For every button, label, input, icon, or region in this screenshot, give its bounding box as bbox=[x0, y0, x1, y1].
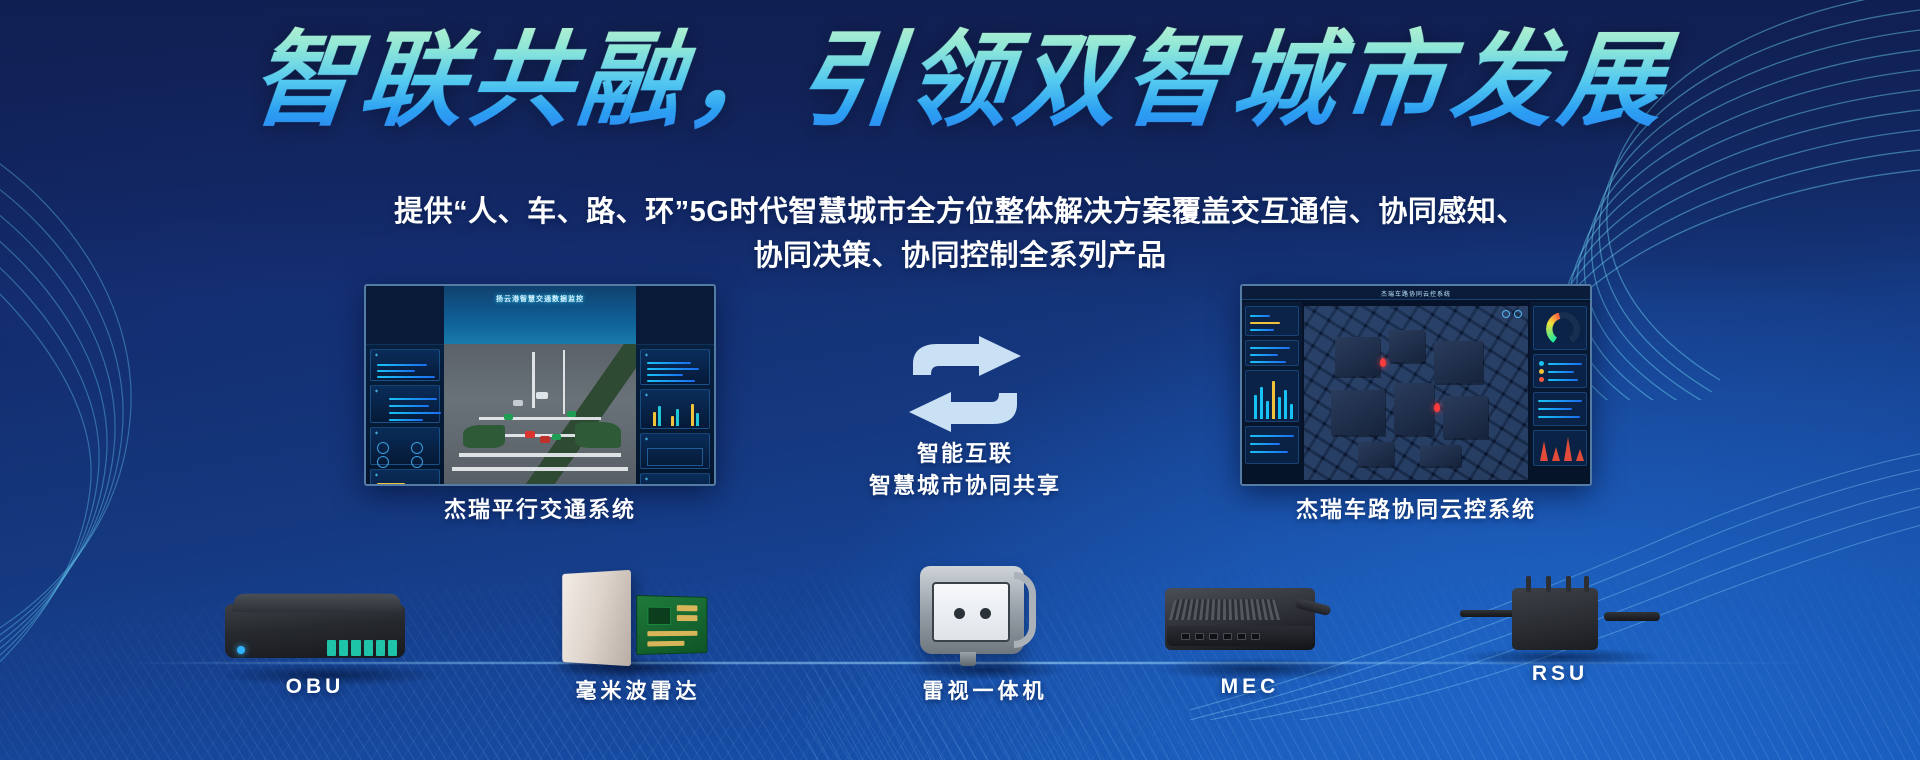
traffic-dashboard: 扬云港智慧交通数据监控 ◈ ◈ ◈ ◈ bbox=[366, 286, 714, 484]
subtitle-line-1: 提供“人、车、路、环”5G时代智慧城市全方位整体解决方案覆盖交互通信、协同感知、 bbox=[0, 190, 1920, 234]
cloud-control-system-screen[interactable]: 杰瑞车路协同云控系统 bbox=[1240, 284, 1592, 486]
rsu-roadside-unit-device[interactable] bbox=[1460, 582, 1660, 662]
right-system-caption: 杰瑞车路协同云控系统 bbox=[1206, 492, 1626, 524]
city-map-3d bbox=[1304, 306, 1528, 480]
millimeter-wave-radar-device[interactable] bbox=[558, 572, 718, 672]
product-label-radar: 毫米波雷达 bbox=[488, 675, 788, 705]
radar-camera-integrated-device[interactable] bbox=[920, 566, 1050, 676]
exchange-arrows-svg bbox=[903, 336, 1027, 432]
camera-housing bbox=[920, 566, 1024, 654]
mec-antenna-connector bbox=[1294, 598, 1331, 616]
radar-enclosure bbox=[562, 570, 631, 666]
parallel-traffic-system-screen[interactable]: 扬云港智慧交通数据监控 ◈ ◈ ◈ ◈ bbox=[364, 284, 716, 486]
cloud-control-screen-title: 杰瑞车路协同云控系统 bbox=[1381, 289, 1451, 298]
mec-front-ports bbox=[1167, 626, 1313, 646]
camera-pole-mount bbox=[960, 652, 976, 666]
center-tagline: 智能互联 智慧城市协同共享 bbox=[770, 438, 1160, 502]
cloud-control-title-bar: 杰瑞车路协同云控系统 bbox=[1242, 286, 1590, 300]
page-title: 智联共融，引领双智城市发展 bbox=[0, 22, 1920, 138]
camera-lens-left bbox=[954, 608, 965, 619]
dashboard-screen-title: 扬云港智慧交通数据监控 bbox=[496, 294, 584, 304]
center-tagline-line-2: 智慧城市协同共享 bbox=[770, 470, 1160, 502]
product-label-radar-camera: 雷视一体机 bbox=[835, 675, 1135, 705]
rsu-stub-antenna-2 bbox=[1546, 576, 1551, 592]
rsu-stub-antenna-3 bbox=[1566, 576, 1571, 592]
obu-port-array bbox=[327, 640, 397, 656]
cloud-right-column bbox=[1530, 302, 1590, 482]
subtitle-line-2: 协同决策、协同控制全系列产品 bbox=[0, 234, 1920, 278]
rsu-antenna-left bbox=[1460, 610, 1518, 617]
camera-front-panel bbox=[932, 582, 1010, 642]
two-way-exchange-arrows-icon bbox=[903, 336, 1027, 432]
left-system-caption: 杰瑞平行交通系统 bbox=[330, 492, 750, 524]
rsu-antenna-right bbox=[1604, 612, 1660, 621]
cloud-control-dashboard: 杰瑞车路协同云控系统 bbox=[1242, 286, 1590, 484]
dashboard-left-column: ◈ ◈ ◈ ◈ bbox=[366, 344, 444, 484]
rsu-stub-antenna-4 bbox=[1584, 576, 1589, 592]
camera-lens-right bbox=[980, 608, 991, 619]
dashboard-intersection-3d-view bbox=[444, 344, 636, 484]
obu-top-face bbox=[231, 594, 403, 612]
product-label-mec: MEC bbox=[1100, 675, 1400, 699]
page-subtitle: 提供“人、车、路、环”5G时代智慧城市全方位整体解决方案覆盖交互通信、协同感知、… bbox=[0, 190, 1920, 278]
obu-device[interactable] bbox=[225, 590, 425, 680]
mec-heatsink-fins bbox=[1169, 599, 1281, 620]
rsu-stub-antenna-1 bbox=[1526, 576, 1531, 592]
cloud-left-column bbox=[1242, 302, 1302, 482]
obu-body bbox=[225, 604, 405, 658]
product-label-rsu: RSU bbox=[1410, 662, 1710, 686]
rsu-body bbox=[1512, 588, 1598, 650]
radar-pcb-board bbox=[636, 595, 707, 655]
dashboard-right-column: ◈ ◈ ◈ ◈ bbox=[636, 344, 714, 484]
mec-edge-computing-device[interactable] bbox=[1165, 588, 1345, 678]
product-label-obu: OBU bbox=[165, 675, 465, 699]
camera-mount-arm bbox=[1014, 572, 1036, 648]
obu-status-led bbox=[237, 646, 245, 654]
center-tagline-line-1: 智能互联 bbox=[770, 438, 1160, 470]
